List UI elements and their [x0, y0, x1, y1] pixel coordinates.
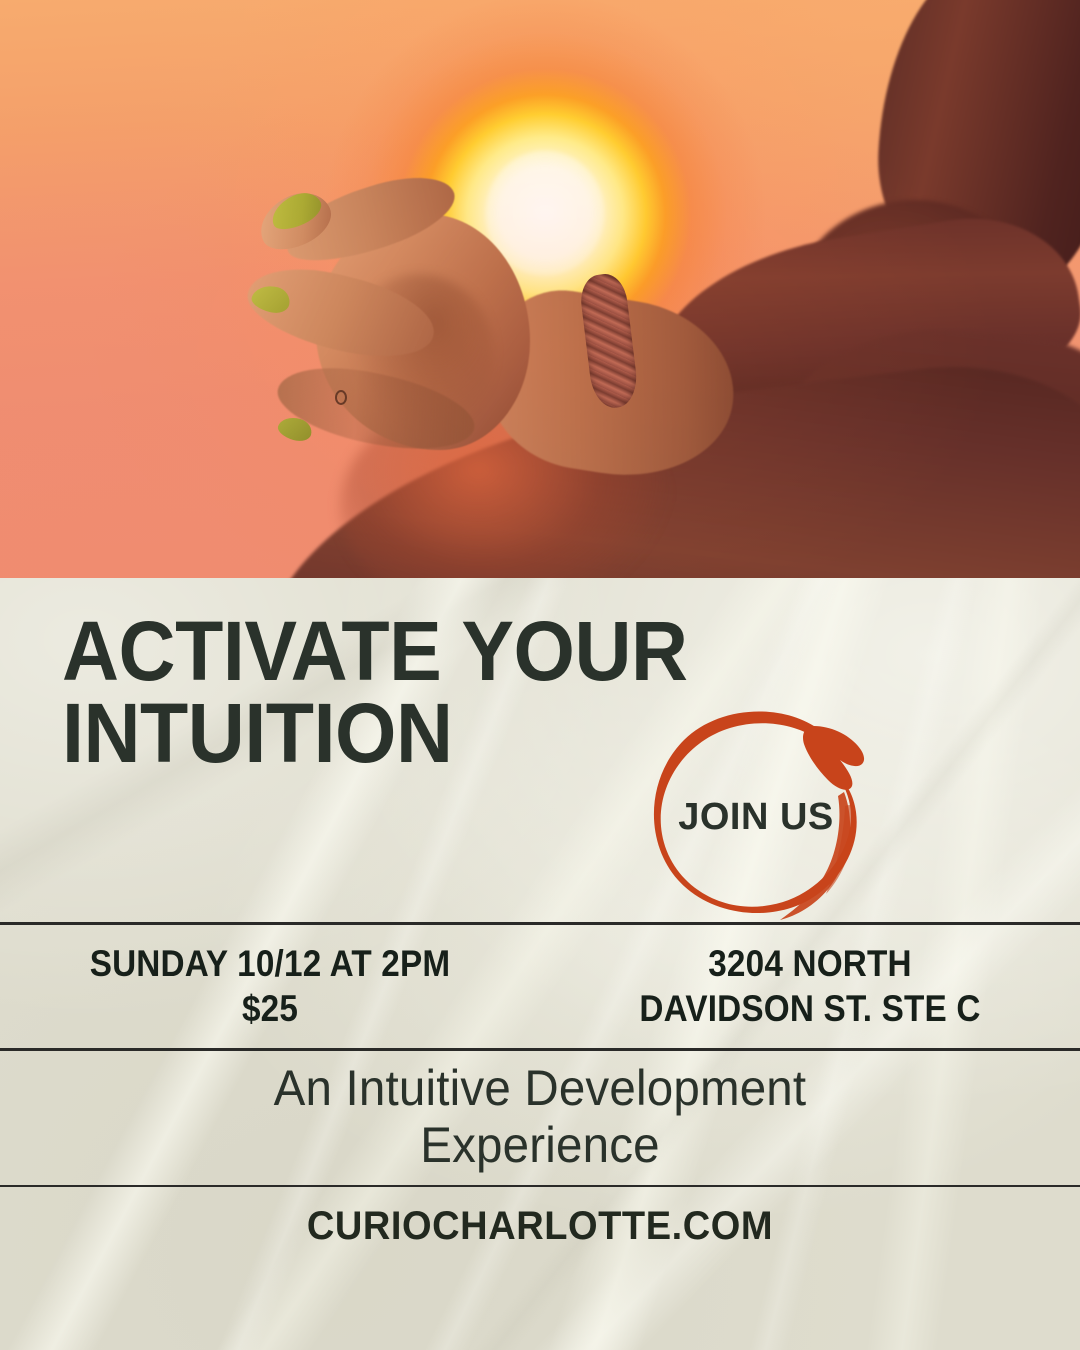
divider-top	[0, 922, 1080, 925]
divider-bottom	[0, 1185, 1080, 1187]
subtitle-line-1: An Intuitive Development	[27, 1060, 1053, 1117]
event-details: SUNDAY 10/12 AT 2PM $25 3204 NORTH DAVID…	[0, 930, 1080, 1042]
join-us-label: JOIN US	[632, 701, 880, 933]
headline-line-1: ACTIVATE YOUR	[62, 604, 688, 698]
address-line-1: 3204 NORTH	[567, 941, 1053, 986]
divider-middle	[0, 1048, 1080, 1051]
info-panel: ACTIVATE YOUR INTUITION JOIN US SUNDAY 1…	[0, 578, 1080, 1350]
subtitle-line-2: Experience	[27, 1117, 1053, 1174]
event-date-time: SUNDAY 10/12 AT 2PM	[27, 941, 513, 986]
join-us-badge[interactable]: JOIN US	[632, 696, 880, 928]
website-url[interactable]: CURIOCHARLOTTE.COM	[27, 1204, 1053, 1249]
event-subtitle: An Intuitive Development Experience	[27, 1060, 1053, 1174]
ring-tattoo-icon	[335, 390, 347, 405]
mudra-hand-icon	[248, 178, 628, 478]
address-line-2: DAVIDSON ST. STE C	[567, 986, 1053, 1031]
hero-photo	[0, 0, 1080, 578]
event-time-price: SUNDAY 10/12 AT 2PM $25	[27, 941, 513, 1031]
event-address: 3204 NORTH DAVIDSON ST. STE C	[567, 941, 1053, 1031]
event-flyer: ACTIVATE YOUR INTUITION JOIN US SUNDAY 1…	[0, 0, 1080, 1350]
event-price: $25	[27, 986, 513, 1031]
